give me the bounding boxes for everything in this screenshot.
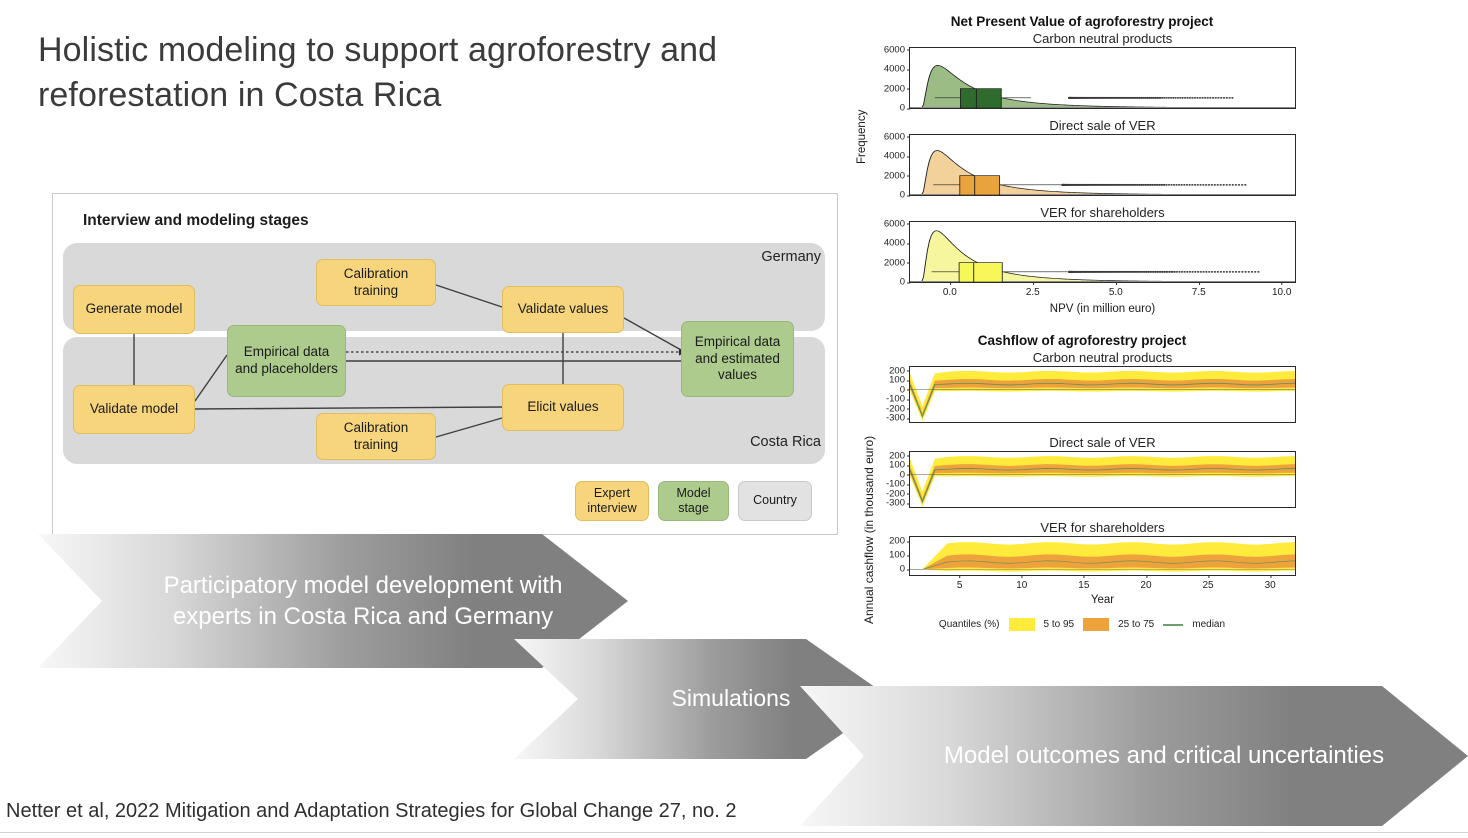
npv-chart-title: Net Present Value of agroforestry projec… <box>852 14 1312 29</box>
arrow-banner-outcomes[interactable]: Model outcomes and critical uncertaintie… <box>800 686 1468 826</box>
y-tick: 2000 <box>884 83 910 94</box>
y-tick: 0 <box>900 564 910 575</box>
legend-key-expert-interview: Expert interview <box>575 481 649 521</box>
cashflow-legend: Quantiles (%) 5 to 95 25 to 75 median <box>852 618 1312 631</box>
x-tick: 10 <box>1016 575 1027 591</box>
y-tick: 6000 <box>884 44 910 55</box>
x-tick: 30 <box>1265 575 1276 591</box>
cashflow-y-axis-label: Annual cashflow (in thousand euro) <box>862 436 876 624</box>
cashflow-panel-title-1: Direct sale of VER <box>909 435 1296 450</box>
legend-key-model-stage: Model stage <box>658 481 729 521</box>
npv-plot-panel-1: 0200040006000 <box>909 134 1296 196</box>
node-generate-model[interactable]: Generate model <box>73 285 195 334</box>
node-calibration-training-top[interactable]: Calibration training <box>316 259 436 306</box>
cashflow-chart-title: Cashflow of agroforestry project <box>852 333 1312 348</box>
x-tick: 15 <box>1078 575 1089 591</box>
node-validate-model[interactable]: Validate model <box>73 385 195 434</box>
y-tick: 6000 <box>884 218 910 229</box>
x-tick: 10.0 <box>1272 282 1291 298</box>
legend-label-median: median <box>1192 619 1225 630</box>
npv-panel-title-2: VER for shareholders <box>909 205 1296 220</box>
node-empirical-estimated-values[interactable]: Empirical data and estimated values <box>681 321 794 397</box>
arrow-banner-outcomes-label: Model outcomes and critical uncertaintie… <box>944 740 1384 771</box>
cashflow-plot-panel-0: 2001000-100-200-300 <box>909 366 1296 423</box>
country-label-germany: Germany <box>761 249 821 265</box>
cashflow-plot-panel-1: 2001000-100-200-300 <box>909 451 1296 508</box>
x-tick: 2.5 <box>1026 282 1040 298</box>
npv-x-axis-label: NPV (in million euro) <box>909 303 1296 315</box>
y-tick: -300 <box>886 413 910 424</box>
legend-key-country: Country <box>738 481 812 521</box>
y-tick: 200 <box>889 536 910 547</box>
diagram-heading: Interview and modeling stages <box>83 212 309 230</box>
cashflow-panel-title-2: VER for shareholders <box>909 520 1296 535</box>
y-tick: 4000 <box>884 151 910 162</box>
x-tick: 0.0 <box>943 282 957 298</box>
node-validate-values[interactable]: Validate values <box>502 286 624 333</box>
npv-plot-panel-0: 0200040006000 <box>909 47 1296 109</box>
x-tick: 25 <box>1203 575 1214 591</box>
page-title: Holistic modeling to support agroforestr… <box>38 28 818 118</box>
node-elicit-values[interactable]: Elicit values <box>502 384 624 431</box>
y-tick: 0 <box>900 103 910 114</box>
npv-panel-title-1: Direct sale of VER <box>909 118 1296 133</box>
cashflow-legend-title: Quantiles (%) <box>939 619 1000 630</box>
legend-line-median <box>1163 624 1183 626</box>
arrow-banner-participatory-label: Participatory model development with exp… <box>148 570 578 632</box>
charts-column: Net Present Value of agroforestry projec… <box>852 14 1312 694</box>
npv-panel-title-0: Carbon neutral products <box>909 31 1296 46</box>
legend-label-25-to-75: 25 to 75 <box>1118 619 1154 630</box>
x-tick: 20 <box>1140 575 1151 591</box>
y-tick: 0 <box>900 190 910 201</box>
legend-label-5-to-95: 5 to 95 <box>1044 619 1075 630</box>
x-tick: 7.5 <box>1192 282 1206 298</box>
y-tick: 2000 <box>884 257 910 268</box>
node-empirical-data-placeholders[interactable]: Empirical data and placeholders <box>227 325 346 397</box>
y-tick: 4000 <box>884 64 910 75</box>
country-label-costa-rica: Costa Rica <box>750 434 821 450</box>
y-tick: -300 <box>886 498 910 509</box>
y-tick: 4000 <box>884 238 910 249</box>
cashflow-x-axis-label: Year <box>909 594 1296 606</box>
legend-swatch-5-to-95 <box>1009 618 1035 631</box>
y-tick: 0 <box>900 277 910 288</box>
x-tick: 5 <box>957 575 963 591</box>
footer-divider <box>0 832 1468 833</box>
cashflow-panel-title-0: Carbon neutral products <box>909 350 1296 365</box>
y-tick: 6000 <box>884 131 910 142</box>
footer-citation: Netter et al, 2022 Mitigation and Adapta… <box>6 800 736 823</box>
y-tick: 100 <box>889 550 910 561</box>
x-tick: 5.0 <box>1109 282 1123 298</box>
npv-plot-panel-2: 02000400060000.02.55.07.510.0 <box>909 221 1296 283</box>
y-tick: 2000 <box>884 170 910 181</box>
npv-y-axis-label: Frequency <box>856 110 868 164</box>
cashflow-plot-panel-2: 200100051015202530 <box>909 536 1296 576</box>
node-calibration-training-bottom[interactable]: Calibration training <box>316 413 436 460</box>
arrow-banner-simulations-label: Simulations <box>672 684 791 714</box>
legend-swatch-25-to-75 <box>1083 618 1109 631</box>
